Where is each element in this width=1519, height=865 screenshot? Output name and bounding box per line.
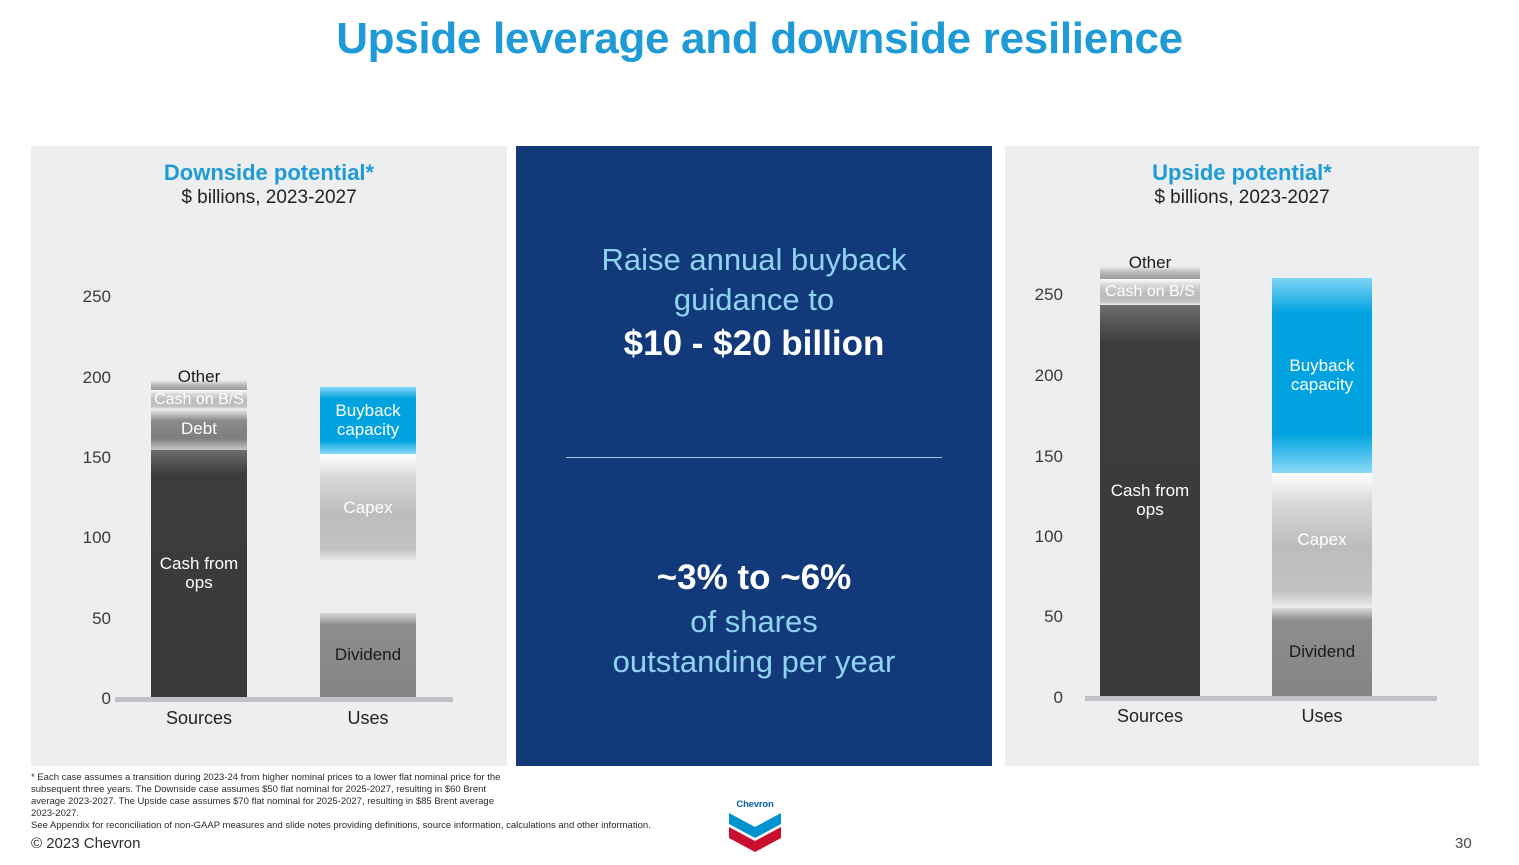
segment-dividend: Dividend [320, 613, 416, 697]
copyright-text: © 2023 Chevron [31, 835, 140, 852]
downside-chart: 250 200 150 100 50 0 Other Cash on B/S D… [31, 146, 507, 766]
downside-sources-bar[interactable]: Other Cash on B/S Debt Cash from ops [151, 380, 247, 697]
ytick-200: 200 [53, 368, 111, 388]
footnote-asterisk: * Each case assumes a transition during … [31, 772, 501, 820]
ytick-200: 200 [1005, 366, 1063, 386]
segment-dividend: Dividend [1272, 608, 1372, 696]
slide: Upside leverage and downside resilience … [0, 0, 1519, 865]
segment-label-buyback-capacity: Buyback capacity [322, 402, 414, 439]
x-axis-baseline [115, 697, 453, 702]
segment-label-capex: Capex [342, 499, 393, 517]
segment-cash-from-ops: Cash from ops [1100, 305, 1200, 696]
downside-panel: Downside potential* $ billions, 2023-202… [31, 146, 507, 766]
footnote-appendix: See Appendix for reconciliation of non-G… [31, 820, 791, 832]
callout-headline: $10 - $20 billion [516, 322, 992, 366]
x-axis-baseline [1085, 696, 1437, 701]
upside-panel: Upside potential* $ billions, 2023-2027 … [1005, 146, 1479, 766]
upside-uses-bar[interactable]: Buyback capacity Capex Dividend [1272, 278, 1372, 696]
segment-other: Other [151, 380, 247, 390]
ytick-250: 250 [53, 287, 111, 307]
segment-other: Other [1100, 266, 1200, 279]
ytick-150: 150 [53, 448, 111, 468]
callout-stat-sub-1: of shares [516, 602, 992, 642]
ytick-0: 0 [1005, 688, 1063, 708]
chevron-logo-text: Chevron [727, 799, 783, 810]
segment-gap [320, 562, 416, 613]
ytick-150: 150 [1005, 447, 1063, 467]
ytick-50: 50 [53, 609, 111, 629]
chevron-hallmark-icon [727, 811, 783, 853]
segment-capex: Capex [320, 454, 416, 562]
ytick-0: 0 [53, 689, 111, 709]
segment-cash-on-bs: Cash on B/S [1100, 279, 1200, 305]
segment-label-cash-on-bs: Cash on B/S [1104, 283, 1196, 300]
upside-sources-bar[interactable]: Other Cash on B/S Cash from ops [1100, 266, 1200, 696]
callout-line-1: Raise annual buyback [516, 240, 992, 280]
upside-chart: 250 200 150 100 50 0 Other Cash on B/S C… [1005, 146, 1479, 766]
ytick-100: 100 [1005, 527, 1063, 547]
callout-stat: ~3% to ~6% [516, 556, 992, 600]
category-label-uses: Uses [1272, 706, 1372, 727]
segment-label-buyback-capacity: Buyback capacity [1274, 357, 1370, 394]
segment-label-dividend: Dividend [1288, 643, 1356, 661]
segment-label-cash-on-bs: Cash on B/S [153, 391, 245, 408]
segment-label-cash-from-ops: Cash from ops [152, 555, 246, 592]
center-callout-panel: Raise annual buyback guidance to $10 - $… [516, 146, 992, 766]
segment-label-debt: Debt [180, 420, 218, 438]
segment-cash-from-ops: Cash from ops [151, 450, 247, 697]
segment-capex: Capex [1272, 473, 1372, 608]
downside-uses-bar[interactable]: Buyback capacity Capex Dividend [320, 387, 416, 697]
segment-cash-on-bs: Cash on B/S [151, 390, 247, 409]
ytick-250: 250 [1005, 285, 1063, 305]
page-title: Upside leverage and downside resilience [0, 14, 1519, 64]
ytick-50: 50 [1005, 607, 1063, 627]
segment-label-cash-from-ops: Cash from ops [1102, 482, 1198, 519]
callout-divider [566, 457, 942, 458]
segment-label-capex: Capex [1296, 531, 1347, 549]
callout-stat-sub-2: outstanding per year [516, 642, 992, 682]
segment-buyback-capacity: Buyback capacity [320, 387, 416, 454]
segment-label-other: Other [1128, 254, 1173, 272]
category-label-sources: Sources [1100, 706, 1200, 727]
segment-buyback-capacity: Buyback capacity [1272, 278, 1372, 473]
page-number: 30 [1455, 835, 1472, 852]
segment-label-dividend: Dividend [334, 646, 402, 664]
callout-line-2: guidance to [516, 280, 992, 320]
segment-label-other: Other [177, 368, 222, 386]
chevron-logo: Chevron [727, 799, 783, 853]
category-label-sources: Sources [151, 708, 247, 729]
category-label-uses: Uses [320, 708, 416, 729]
ytick-100: 100 [53, 528, 111, 548]
segment-debt: Debt [151, 409, 247, 450]
